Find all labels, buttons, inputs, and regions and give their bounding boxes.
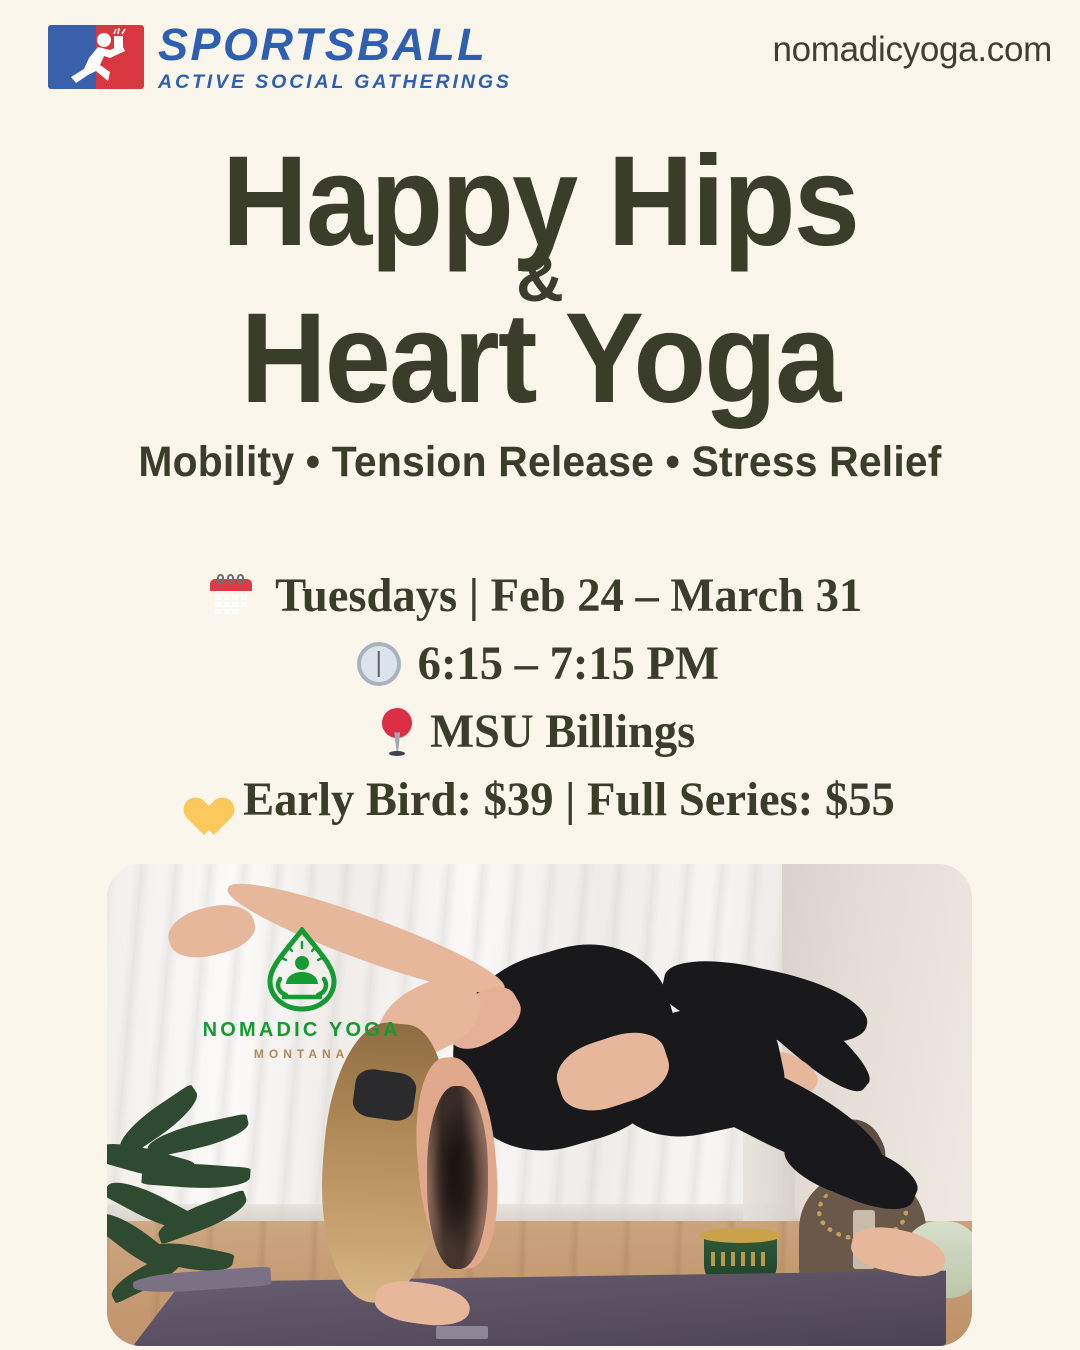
photo-scene: NOMADIC YOGA MONTANA xyxy=(107,864,972,1346)
detail-row: Early Bird: $39 | Full Series: $55 xyxy=(0,766,1080,834)
lotus-meditation-icon xyxy=(264,927,340,1013)
title-line-1: Happy Hips xyxy=(38,142,1042,262)
page-header: SPORTSBALL ACTIVE SOCIAL GATHERINGS noma… xyxy=(0,0,1080,108)
page-title: Happy Hips & Heart Yoga Mobility • Tensi… xyxy=(0,142,1080,487)
yellow-heart-icon xyxy=(175,780,221,822)
event-details: Tuesdays | Feb 24 – March 31 6:15 – 7:15… xyxy=(0,562,1080,835)
yoga-photo: NOMADIC YOGA MONTANA xyxy=(107,864,972,1346)
location-pin-icon xyxy=(380,708,414,756)
detail-text: Early Bird: $39 | Full Series: $55 xyxy=(243,766,895,834)
detail-row: Tuesdays | Feb 24 – March 31 xyxy=(0,562,1080,630)
running-figure-icon xyxy=(48,25,144,89)
detail-text: Tuesdays | Feb 24 – March 31 xyxy=(275,562,862,630)
sportsball-logo[interactable]: SPORTSBALL ACTIVE SOCIAL GATHERINGS xyxy=(48,22,512,93)
watermark-name: NOMADIC YOGA xyxy=(202,1019,401,1042)
detail-text: 6:15 – 7:15 PM xyxy=(417,630,718,698)
page-subtitle: Mobility • Tension Release • Stress Reli… xyxy=(27,438,1053,487)
detail-row: MSU Billings xyxy=(0,698,1080,766)
watermark-sub: MONTANA xyxy=(202,1047,401,1061)
clock-icon xyxy=(357,642,401,686)
brand-name: SPORTSBALL xyxy=(158,22,512,67)
detail-row: 6:15 – 7:15 PM xyxy=(0,630,1080,698)
title-line-2: Heart Yoga xyxy=(38,299,1042,419)
detail-text: MSU Billings xyxy=(430,698,695,766)
calendar-icon xyxy=(208,573,254,619)
brand-tagline: ACTIVE SOCIAL GATHERINGS xyxy=(158,73,512,93)
nomadic-yoga-watermark: NOMADIC YOGA MONTANA xyxy=(202,927,401,1061)
website-url[interactable]: nomadicyoga.com xyxy=(772,30,1052,70)
